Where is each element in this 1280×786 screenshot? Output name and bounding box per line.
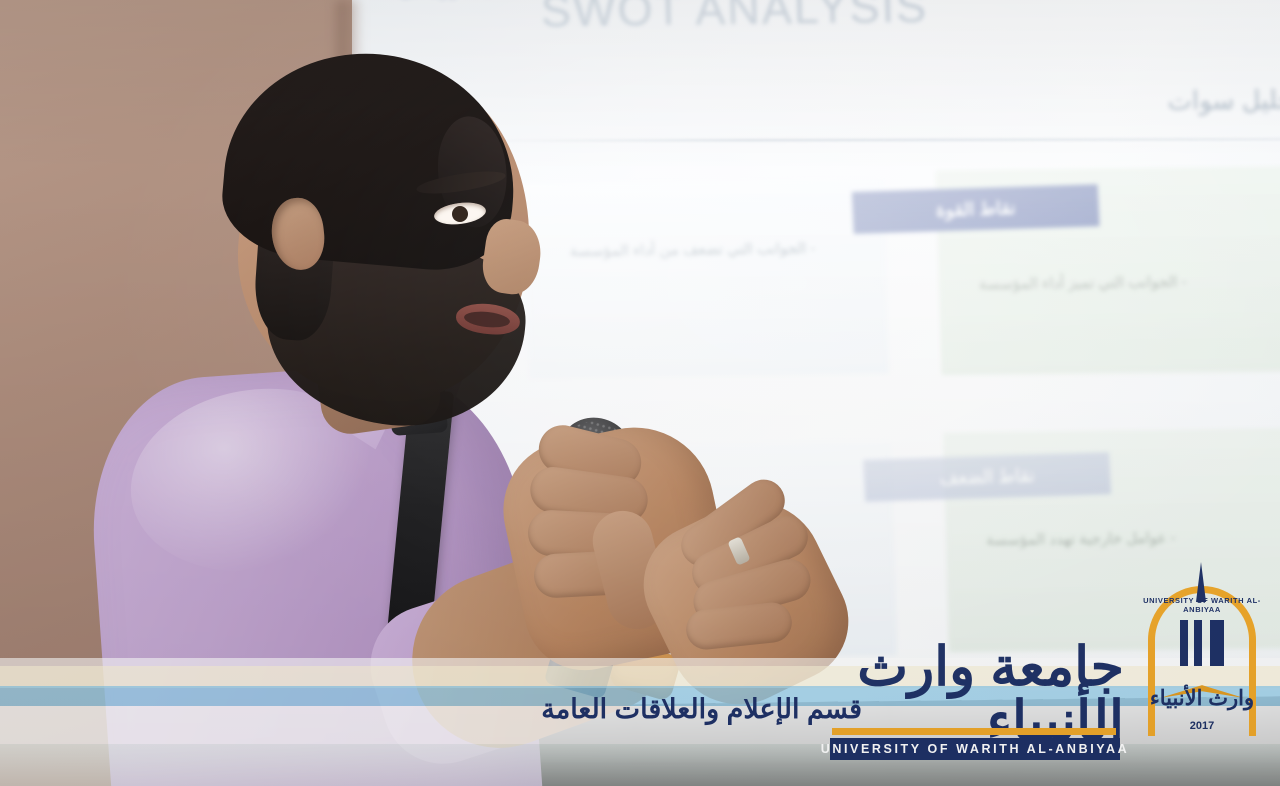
slide-header-strengths: نقاط القوة	[852, 184, 1100, 234]
university-wordmark: جامعة وارث الأنبياء UNIVERSITY OF WARITH…	[824, 652, 1124, 768]
photo-stage: جامعة وارث الأنبياء SWOT ANALYSIS تحليل …	[0, 0, 1280, 786]
slide-title: SWOT ANALYSIS	[540, 0, 928, 37]
emblem-name-arabic: وارث الأنبياء	[1144, 688, 1260, 710]
emblem-year: 2017	[1138, 720, 1266, 732]
slide-text-strengths: - الجوانب التي تميز أداء المؤسسة	[978, 268, 1187, 301]
wordmark-arabic: جامعة وارث الأنبياء	[824, 652, 1124, 736]
department-name-arabic: قسم الإعلام والعلاقات العامة	[541, 694, 862, 725]
emblem-geometric-core	[1180, 620, 1224, 666]
university-emblem: UNIVERSITY OF WARITH AL-ANBIYAA وارث الأ…	[1138, 560, 1266, 750]
pupil	[452, 206, 468, 222]
emblem-arch-text: UNIVERSITY OF WARITH AL-ANBIYAA	[1142, 596, 1262, 614]
slide-brand-logo: جامعة وارث الأنبياء	[392, 0, 513, 29]
slide-header-opportunities: نقاط الضعف	[863, 452, 1111, 502]
branding-banner: قسم الإعلام والعلاقات العامة جامعة وارث …	[0, 640, 1280, 786]
nose	[479, 216, 545, 297]
slide-subtitle-arabic: تحليل سوات	[1167, 84, 1280, 117]
wordmark-english: UNIVERSITY OF WARITH AL-ANBIYAA	[830, 738, 1120, 760]
hair	[217, 42, 524, 276]
slide-text-opportunities: - عوامل خارجية تهدد المؤسسة	[986, 524, 1177, 557]
wordmark-gold-bar	[832, 728, 1116, 735]
